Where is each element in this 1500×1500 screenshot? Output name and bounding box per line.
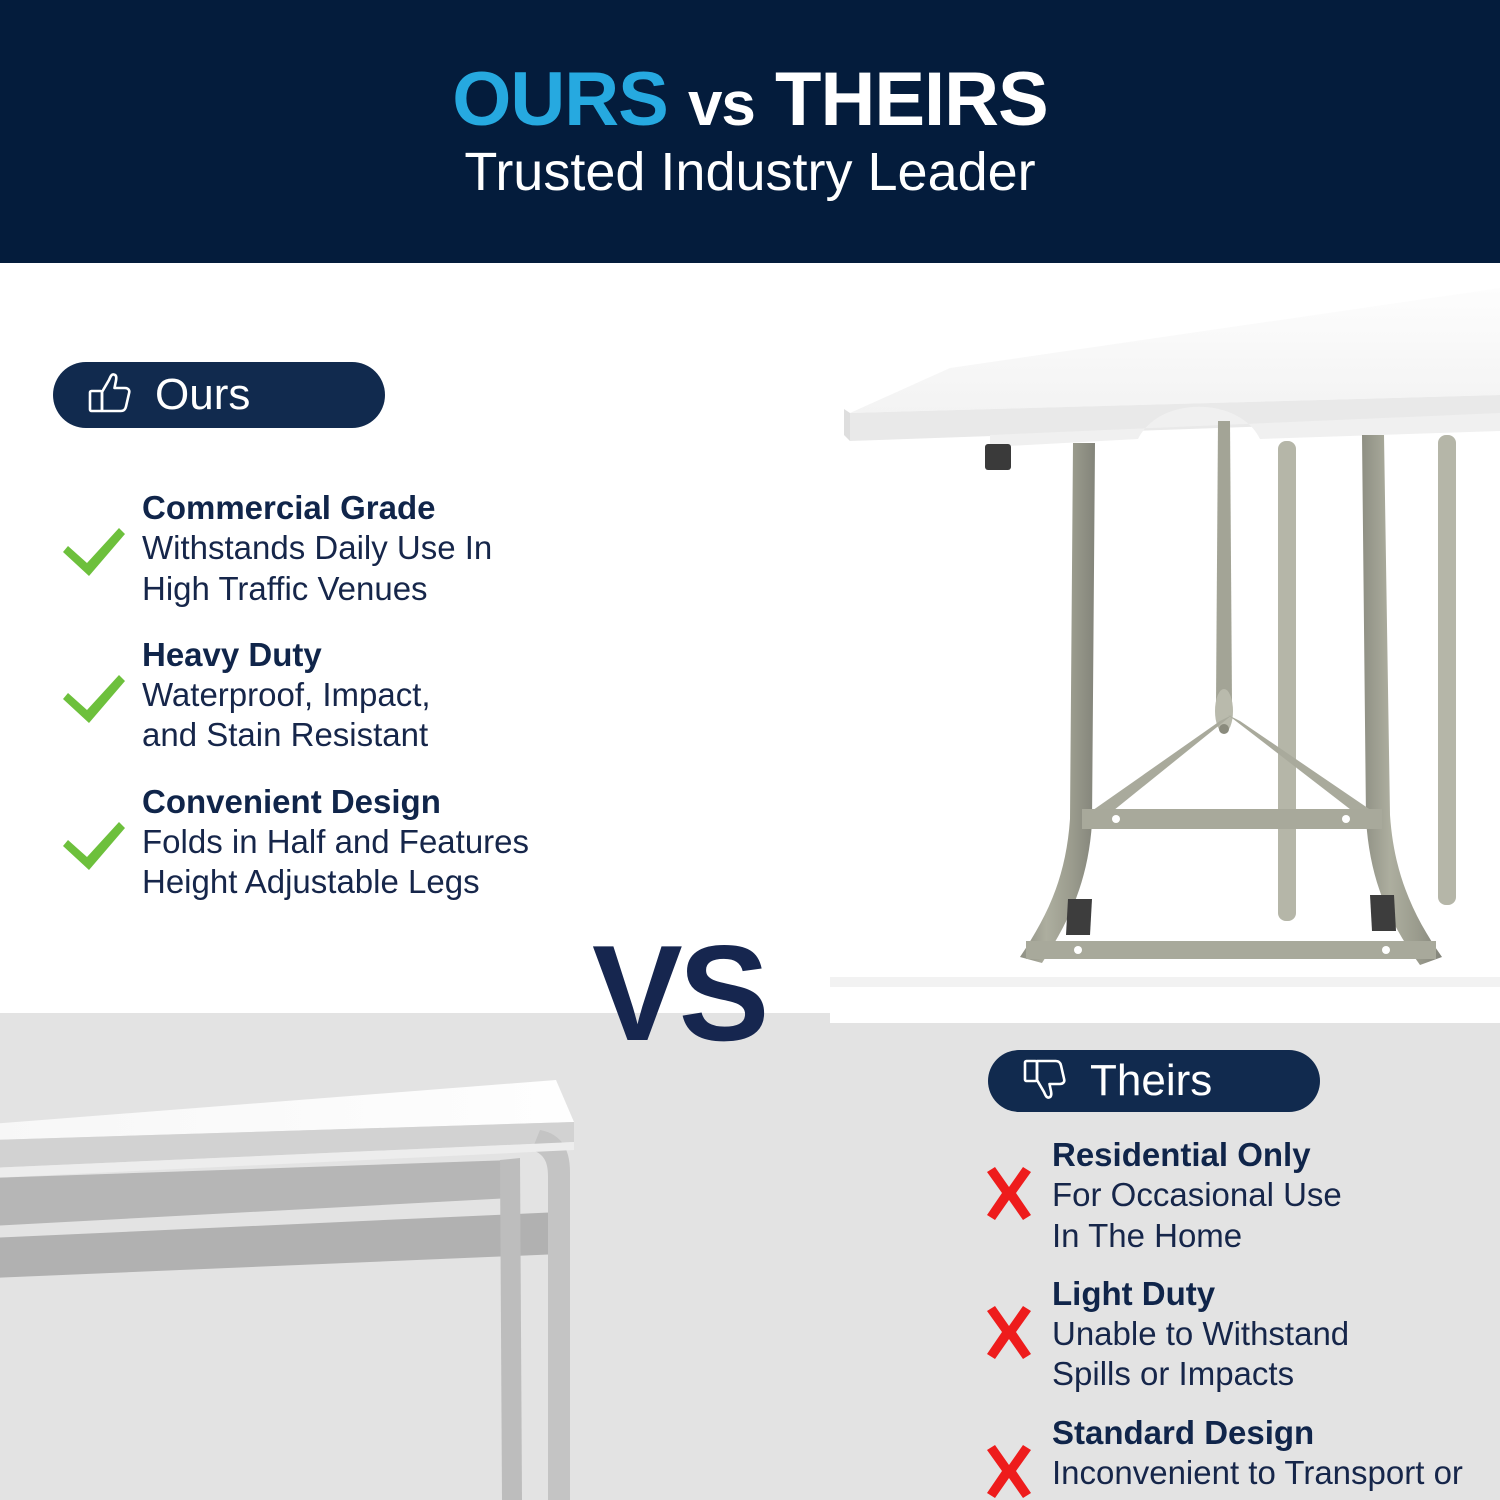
title-theirs: THEIRS [775,57,1048,142]
title-vs: vs [688,70,755,139]
green-check-icon [46,488,142,580]
feature-desc: Waterproof, Impact, and Stain Resistant [142,675,606,756]
list-item: Heavy Duty Waterproof, Impact, and Stain… [46,635,606,756]
feature-desc: For Occasional Use In The Home [1052,1175,1496,1256]
list-item: Light Duty Unable to Withstand Spills or… [966,1274,1496,1395]
feature-desc: Inconvenient to Transport or Store and D… [1052,1453,1496,1500]
thumbs-up-icon [87,371,133,420]
feature-title: Heavy Duty [142,635,606,675]
feature-title: Light Duty [1052,1274,1496,1314]
list-item: Commercial Grade Withstands Daily Use In… [46,488,606,609]
page-subtitle: Trusted Industry Leader [464,144,1035,201]
title-accent-ours: OURS [452,57,668,142]
badge-ours-label: Ours [155,373,250,417]
comparison-infographic: OURS vs THEIRS Trusted Industry Leader [0,0,1500,1500]
theirs-product-photo [0,1050,620,1500]
list-item: Convenient Design Folds in Half and Feat… [46,782,606,903]
thumbs-down-icon [1022,1057,1068,1106]
vs-mark: VS [592,925,765,1061]
page-title: OURS vs THEIRS [452,62,1048,138]
feature-title: Residential Only [1052,1135,1496,1175]
badge-theirs[interactable]: Theirs [988,1050,1320,1112]
ours-feature-list: Commercial Grade Withstands Daily Use In… [46,488,606,928]
header-banner: OURS vs THEIRS Trusted Industry Leader [0,0,1500,263]
badge-ours[interactable]: Ours [53,362,385,428]
ours-product-photo [830,263,1500,1023]
list-item: Standard Design Inconvenient to Transpor… [966,1413,1496,1500]
red-x-icon [966,1413,1052,1500]
feature-desc: Withstands Daily Use In High Traffic Ven… [142,528,606,609]
theirs-feature-list: Residential Only For Occasional Use In T… [966,1135,1496,1500]
green-check-icon [46,635,142,727]
list-item: Residential Only For Occasional Use In T… [966,1135,1496,1256]
feature-title: Standard Design [1052,1413,1496,1453]
badge-theirs-label: Theirs [1090,1059,1212,1103]
feature-desc: Unable to Withstand Spills or Impacts [1052,1314,1496,1395]
feature-title: Convenient Design [142,782,606,822]
feature-title: Commercial Grade [142,488,606,528]
red-x-icon [966,1135,1052,1223]
green-check-icon [46,782,142,874]
red-x-icon [966,1274,1052,1362]
feature-desc: Folds in Half and Features Height Adjust… [142,822,606,903]
